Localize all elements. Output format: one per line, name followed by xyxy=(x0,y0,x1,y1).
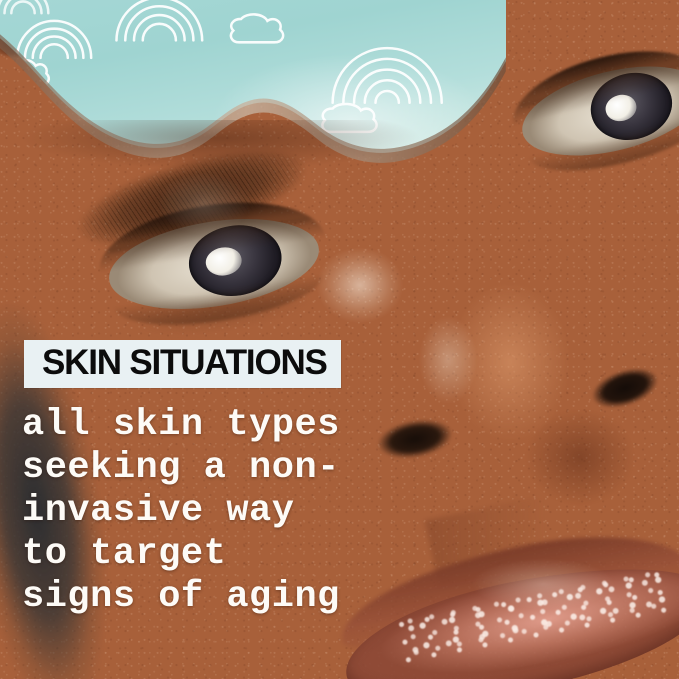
headline-banner: SKIN SITUATIONS xyxy=(24,340,341,388)
copy-line: invasive way xyxy=(22,490,442,533)
rainbow-icon xyxy=(116,0,202,40)
cloud-icon xyxy=(231,14,283,42)
copy-line: to target xyxy=(22,533,442,576)
rainbow-icon xyxy=(0,0,48,13)
skincare-promo-graphic: SKIN SITUATIONS all skin types seeking a… xyxy=(0,0,679,679)
copy-line: seeking a non- xyxy=(22,447,442,490)
body-copy-block: all skin types seeking a non- invasive w… xyxy=(22,404,442,619)
rainbow-icon xyxy=(17,21,91,58)
copy-line: signs of aging xyxy=(22,576,442,619)
copy-line: all skin types xyxy=(22,404,442,447)
page-title: SKIN SITUATIONS xyxy=(42,345,327,381)
mint-eye-mask-headband xyxy=(0,0,506,180)
rainbow-icon xyxy=(0,109,78,154)
rainbow-icon xyxy=(333,48,442,103)
cloud-icon xyxy=(322,104,376,132)
